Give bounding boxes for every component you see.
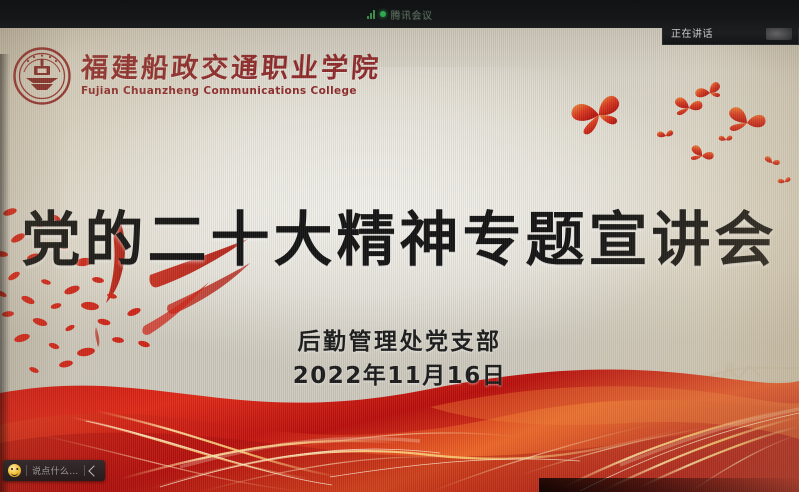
toolbar-divider <box>26 465 27 476</box>
college-seal-icon <box>12 46 72 106</box>
red-butterflies-decoration <box>569 63 799 198</box>
college-name-block: 福建船政交通职业学院 Fujian Chuanzheng Communicati… <box>81 55 381 96</box>
monitor-bezel-bottom-right <box>539 478 799 492</box>
meeting-status-bar: 腾讯会议 <box>0 0 799 28</box>
green-recording-dot <box>380 11 386 17</box>
page-title: 党的二十大精神专题宣讲会 <box>0 210 799 269</box>
slide-date: 2022年11月16日 <box>0 360 799 393</box>
signal-bars-icon <box>367 10 375 19</box>
college-name-en: Fujian Chuanzheng Communications College <box>81 85 381 97</box>
emoji-smiley-icon[interactable] <box>8 464 21 477</box>
speaker-video-thumbnail[interactable] <box>766 26 792 40</box>
toolbar-divider-2 <box>84 465 85 476</box>
college-brand: 福建船政交通职业学院 Fujian Chuanzheng Communicati… <box>12 44 381 108</box>
college-name-cn: 福建船政交通职业学院 <box>80 55 382 83</box>
chat-toolbar[interactable]: 说点什么… <box>3 460 105 481</box>
slide-subtitle: 后勤管理处党支部 <box>0 326 799 359</box>
meeting-app-name: 腾讯会议 <box>391 7 433 22</box>
chat-input[interactable]: 说点什么… <box>32 464 79 477</box>
presentation-slide: 福建船政交通职业学院 Fujian Chuanzheng Communicati… <box>0 27 799 492</box>
monitor-bezel-left <box>0 54 10 492</box>
screenshot-root: 腾讯会议 <box>0 0 799 492</box>
chevron-left-icon[interactable] <box>88 465 99 476</box>
